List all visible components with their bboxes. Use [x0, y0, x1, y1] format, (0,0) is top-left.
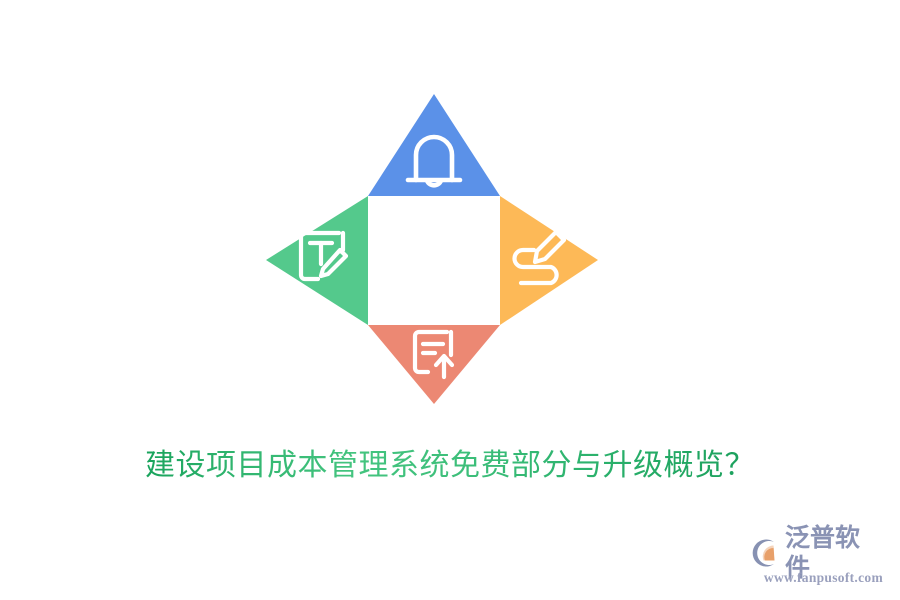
watermark: 泛普软件 www.fanpusoft.com [752, 534, 884, 586]
fanpu-logo-icon [752, 538, 782, 568]
diamond-svg [0, 0, 900, 430]
segment-left-text-edit[interactable] [266, 196, 368, 325]
page-title: 建设项目成本管理系统免费部分与升级概览？ [145, 444, 755, 488]
title-row: 建设项目成本管理系统免费部分与升级概览？ [0, 444, 900, 488]
diamond-graphic [0, 0, 900, 430]
segment-left-triangle [266, 196, 368, 325]
segment-top-bell[interactable] [368, 94, 500, 196]
segment-bottom-upload[interactable] [368, 325, 500, 404]
page-root: 建设项目成本管理系统免费部分与升级概览？ 泛普软件 www.fanpusoft.… [0, 0, 900, 600]
center-square [368, 196, 500, 325]
segment-right-signature[interactable] [500, 196, 598, 325]
watermark-top: 泛普软件 [752, 537, 884, 569]
watermark-url: www.fanpusoft.com [764, 570, 883, 586]
